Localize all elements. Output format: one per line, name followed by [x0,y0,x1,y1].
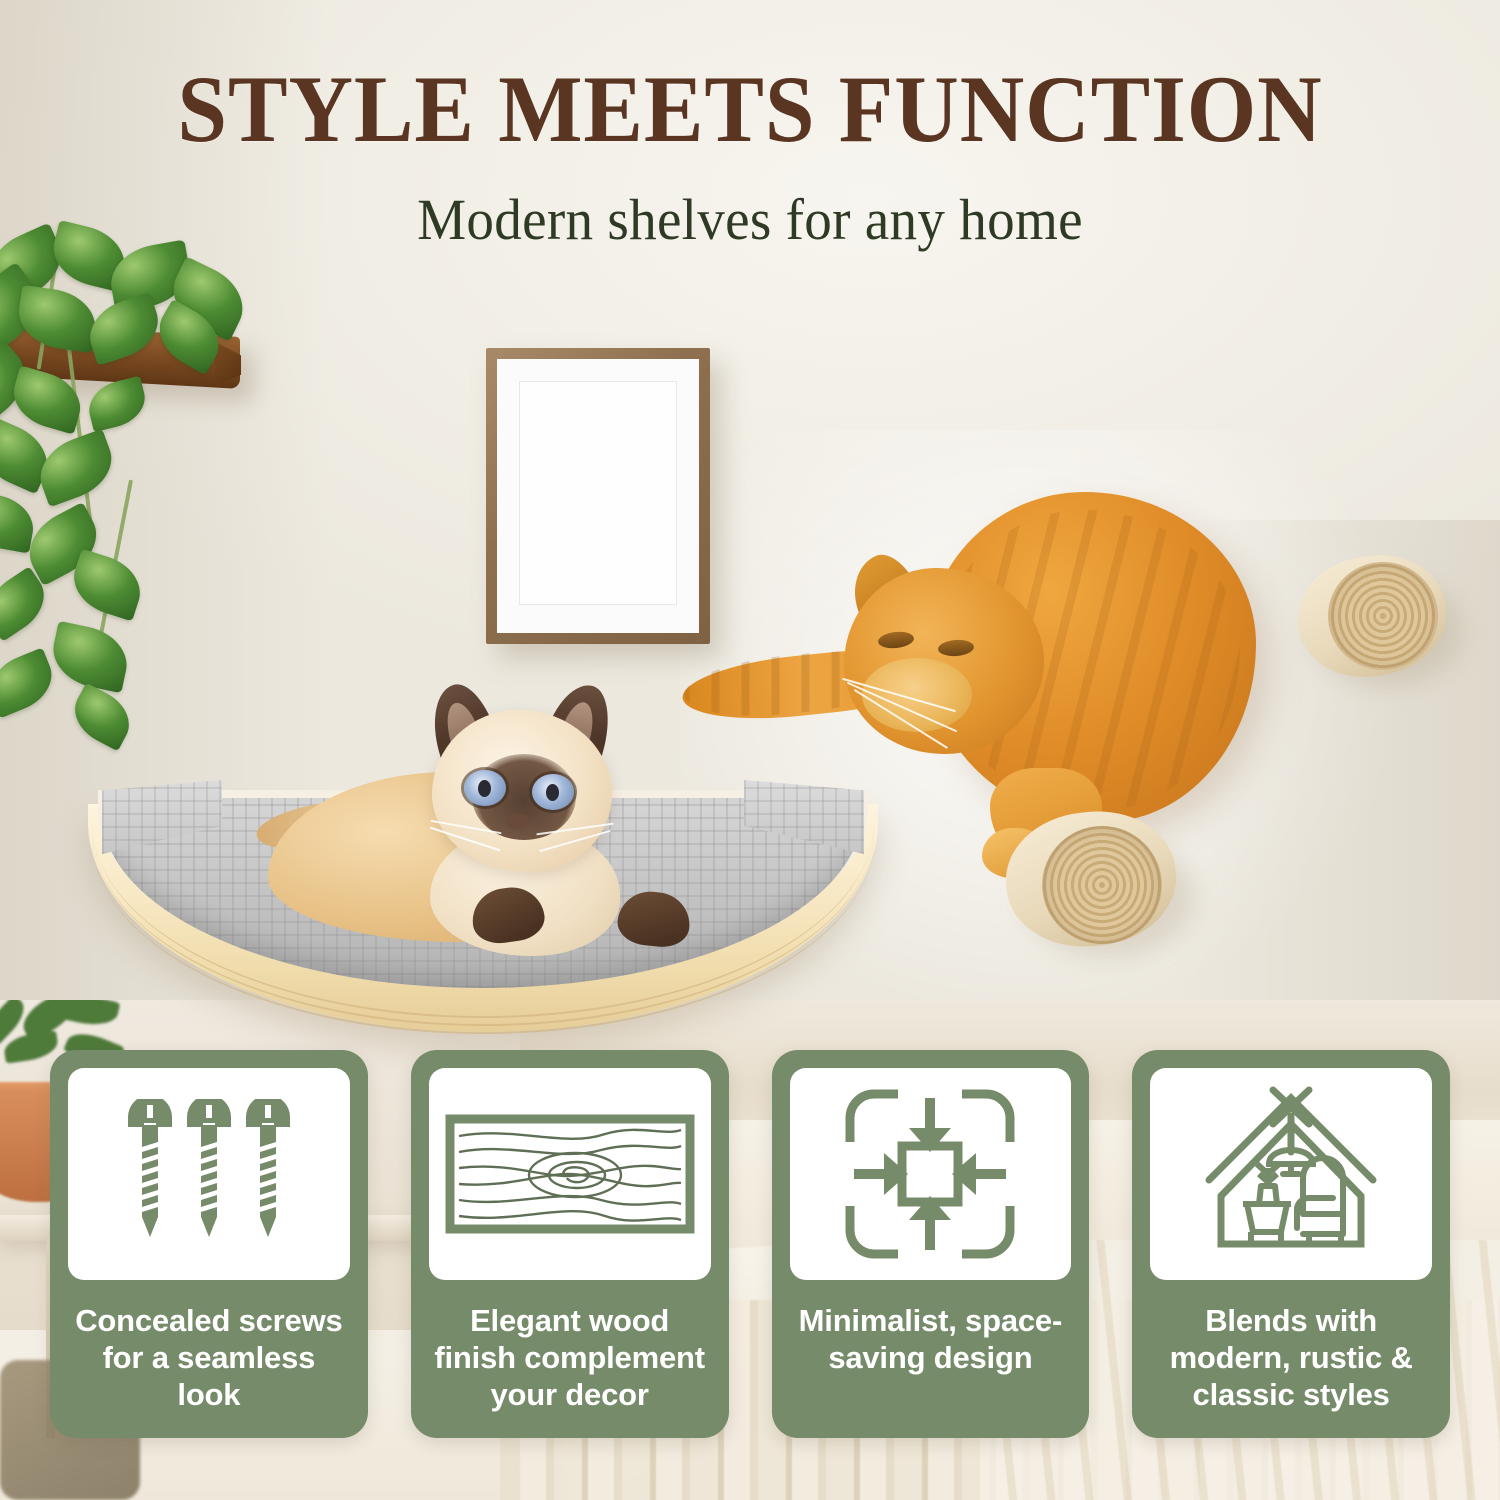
sisal-rope-top [1042,826,1162,944]
house-interior-icon [1150,1068,1432,1280]
frame-artwork-area [519,381,677,605]
sisal-rope-top [1328,562,1438,670]
sisal-step-lower [1006,812,1176,952]
feature-card-wood-finish[interactable]: Elegant wood finish complement your deco… [411,1050,729,1438]
feature-card-label: Blends with modern, rustic & classic sty… [1150,1302,1432,1414]
wood-grain-icon [429,1068,711,1280]
siamese-cat [250,676,670,976]
space-saving-arrows-icon [790,1068,1072,1280]
screws-icon [68,1068,350,1280]
feature-card-label: Minimalist, space-saving design [790,1302,1072,1376]
feature-card-label: Elegant wood finish complement your deco… [429,1302,711,1414]
page-title: STYLE MEETS FUNCTION [45,62,1455,157]
feature-card-space-saving[interactable]: Minimalist, space-saving design [772,1050,1090,1438]
feature-card-blends-styles[interactable]: Blends with modern, rustic & classic sty… [1132,1050,1450,1438]
frame-mat [497,359,699,633]
cat-eye-left [464,770,506,806]
feature-cards: Concealed screws for a seamless look [50,1050,1450,1438]
cat-nose [506,814,528,829]
feature-card-concealed-screws[interactable]: Concealed screws for a seamless look [50,1050,368,1438]
feature-card-label: Concealed screws for a seamless look [68,1302,350,1414]
picture-frame [486,348,710,644]
product-infographic: STYLE MEETS FUNCTION Modern shelves for … [0,0,1500,1500]
cat-eye-right [532,774,574,810]
